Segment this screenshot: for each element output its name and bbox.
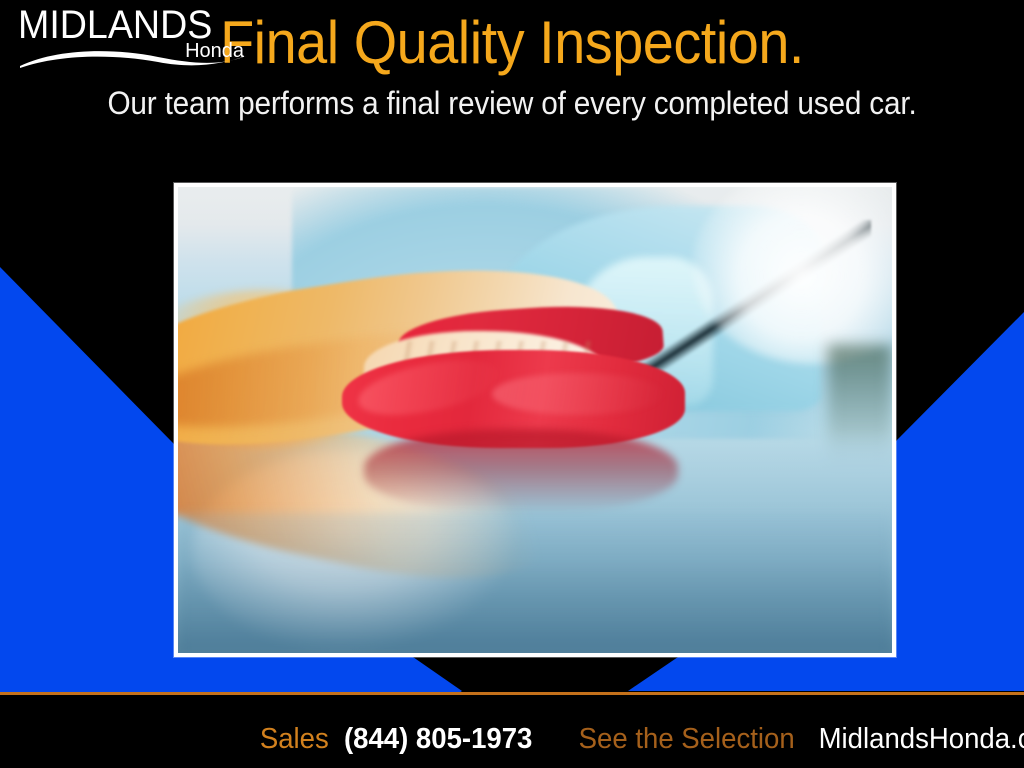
logo-swoosh-icon: [18, 44, 250, 70]
photo-cloth-fold-right: [492, 373, 663, 415]
page-subtitle: Our team performs a final review of ever…: [36, 84, 988, 122]
see-selection-label: See the Selection: [579, 722, 795, 756]
dealer-logo[interactable]: MIDLANDS Honda: [18, 4, 250, 70]
hero-photo-frame: [174, 183, 896, 657]
bottom-blue-band-left: [0, 657, 462, 691]
website-url[interactable]: MidlandsHonda.com: [819, 722, 1024, 756]
bottom-blue-band: [0, 657, 1024, 692]
bottom-blue-band-right: [628, 657, 1024, 691]
right-blue-wedge: [896, 312, 1024, 657]
sales-phone-number[interactable]: (844) 805-1973: [344, 722, 532, 756]
hero-photo: [178, 187, 892, 653]
sales-label: Sales: [260, 722, 329, 756]
advertisement-banner: Final Quality Inspection. Our team perfo…: [0, 0, 1024, 768]
footer-contact-group: Sales (844) 805-1973 See the Selection M…: [258, 722, 1024, 762]
left-blue-wedge: [0, 267, 174, 657]
logo-brand-text: MIDLANDS: [18, 4, 212, 46]
photo-cloth-reflection: [364, 429, 678, 513]
photo-paint-sheen: [178, 513, 892, 653]
